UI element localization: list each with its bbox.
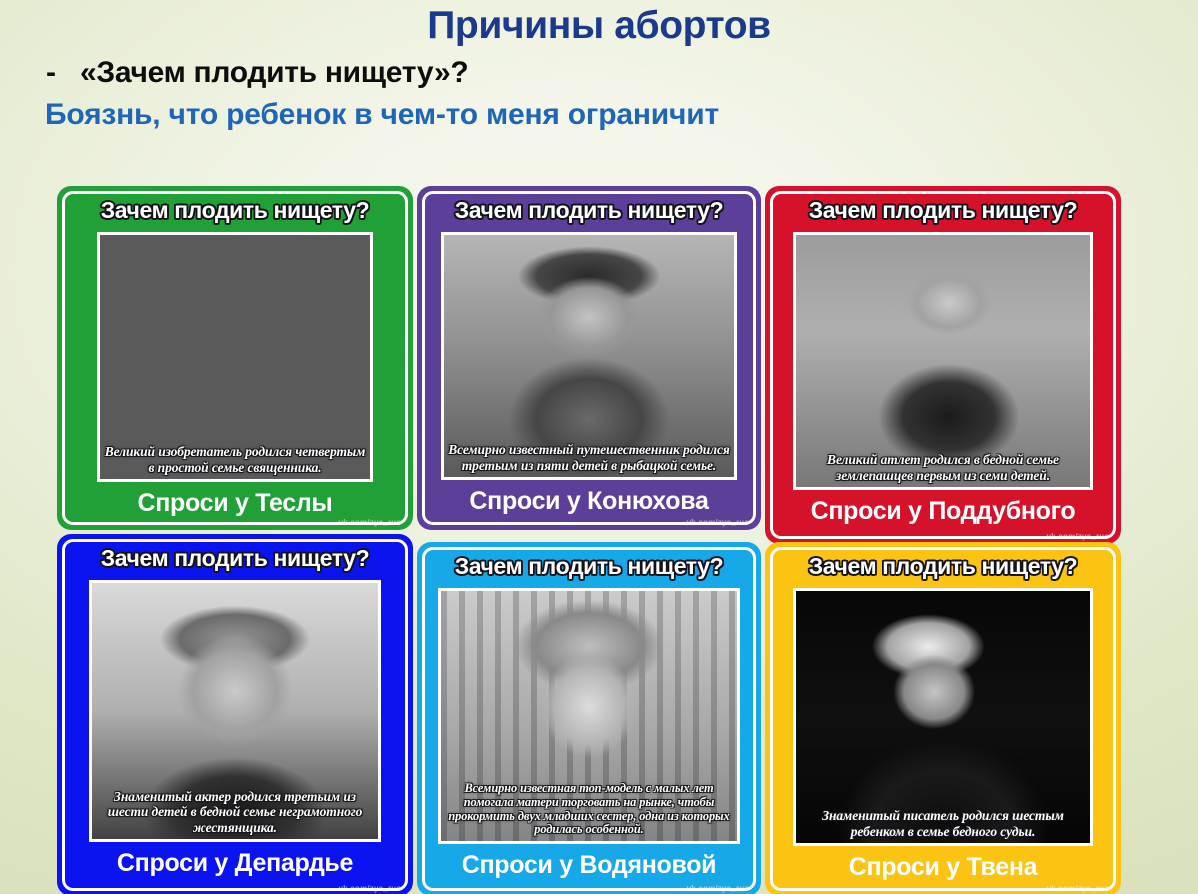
meme-card-poddubny[interactable]: Зачем плодить нищету? Великий атлет роди… [765, 186, 1121, 544]
card-watermark: vk.com/zya_rus [1047, 884, 1109, 893]
card-photo-frame: Знаменитый писатель родился шестым ребен… [793, 588, 1093, 846]
meme-card-twain[interactable]: Зачем плодить нищету? Знаменитый писател… [765, 542, 1121, 894]
card-footer: Спроси у Депардье [117, 849, 353, 878]
meme-grid: Зачем плодить нищету? Великий изобретате… [57, 186, 1121, 894]
card-headline: Зачем плодить нищету? [101, 545, 370, 572]
card-footer: Спроси у Теслы [138, 489, 333, 518]
card-watermark: vk.com/zya_rus [339, 518, 401, 527]
card-photo-frame: Великий атлет родился в бедной семье зем… [793, 232, 1093, 490]
card-footer: Спроси у Поддубного [811, 497, 1076, 526]
card-footer: Спроси у Водяновой [462, 851, 717, 880]
portrait-tesla-photo [100, 235, 370, 479]
meme-card-vodyanova[interactable]: Зачем плодить нищету? Всемирно известная… [417, 542, 761, 894]
card-footer: Спроси у Твена [849, 853, 1038, 882]
portrait-konyukhov-photo [444, 235, 734, 477]
card-caption: Всемирно известная топ-модель с малых ле… [443, 782, 735, 837]
card-watermark: vk.com/zya_rus [339, 884, 401, 893]
card-photo-frame: Всемирно известная топ-модель с малых ле… [438, 588, 740, 844]
card-watermark: vk.com/zya_rus [1047, 532, 1109, 541]
card-watermark: vk.com/zya_rus [687, 518, 749, 527]
page-title: Причины абортов [0, 0, 1198, 47]
card-headline: Зачем плодить нищету? [101, 197, 370, 224]
card-photo-frame: Всемирно известный путешественник родилс… [441, 232, 737, 480]
card-caption: Знаменитый актер родился третьим из шест… [94, 789, 376, 835]
slide-header: Причины абортов - «Зачем плодить нищету»… [0, 0, 1198, 130]
card-caption: Всемирно известный путешественник родилс… [446, 442, 732, 473]
card-watermark: vk.com/zya_rus [687, 884, 749, 893]
bullet-text: «Зачем плодить нищету»? [80, 58, 468, 88]
card-footer: Спроси у Конюхова [469, 487, 708, 516]
card-headline: Зачем плодить нищету? [455, 197, 724, 224]
meme-card-tesla[interactable]: Зачем плодить нищету? Великий изобретате… [57, 186, 413, 530]
card-headline: Зачем плодить нищету? [809, 553, 1078, 580]
subhead-text: Боязнь, что ребенок в чем-то меня ограни… [0, 100, 1198, 130]
portrait-poddubny-photo [796, 235, 1090, 487]
bullet-line: - «Зачем плодить нищету»? [0, 58, 1198, 88]
card-caption: Знаменитый писатель родился шестым ребен… [798, 808, 1088, 839]
portrait-twain-photo [796, 591, 1090, 843]
meme-card-depardieu[interactable]: Зачем плодить нищету? Знаменитый актер р… [57, 534, 413, 894]
card-headline: Зачем плодить нищету? [809, 197, 1078, 224]
bullet-dash: - [46, 58, 56, 88]
card-photo-frame: Знаменитый актер родился третьим из шест… [89, 580, 381, 842]
meme-card-konyukhov[interactable]: Зачем плодить нищету? Всемирно известный… [417, 186, 761, 530]
card-caption: Великий атлет родился в бедной семье зем… [798, 452, 1088, 483]
card-headline: Зачем плодить нищету? [455, 553, 724, 580]
card-photo-frame: Великий изобретатель родился четвертым в… [97, 232, 373, 482]
card-caption: Великий изобретатель родился четвертым в… [102, 444, 368, 475]
